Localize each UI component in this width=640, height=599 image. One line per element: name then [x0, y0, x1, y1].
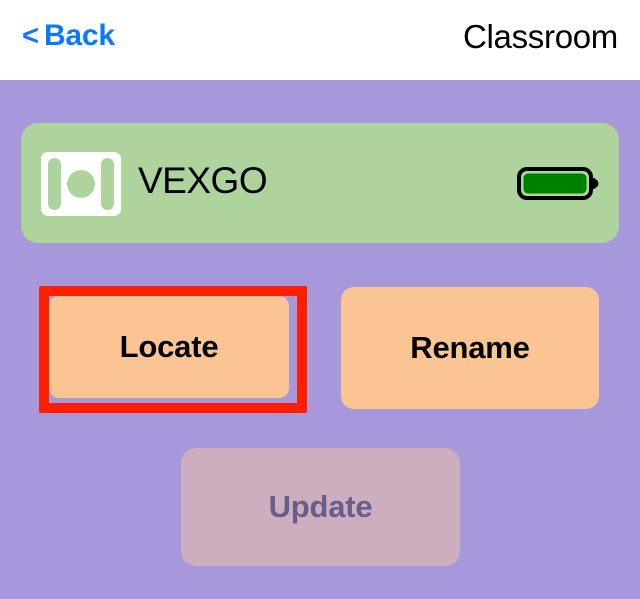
update-button[interactable]: Update	[181, 448, 460, 566]
device-settings-screen: < Back Classroom VEXGO Locat	[0, 0, 640, 599]
navigation-bar: < Back Classroom	[0, 0, 640, 80]
device-name-label: VEXGO	[138, 159, 267, 203]
device-card[interactable]: VEXGO	[21, 123, 619, 243]
back-button[interactable]: < Back	[22, 21, 115, 51]
page-title: Classroom	[463, 19, 618, 55]
battery-full-icon	[517, 167, 599, 200]
back-button-label: Back	[44, 21, 115, 51]
vex-go-brain-icon	[41, 152, 121, 216]
rename-button[interactable]: Rename	[341, 287, 599, 409]
chevron-left-icon: <	[22, 22, 39, 51]
locate-button[interactable]: Locate	[49, 296, 289, 398]
